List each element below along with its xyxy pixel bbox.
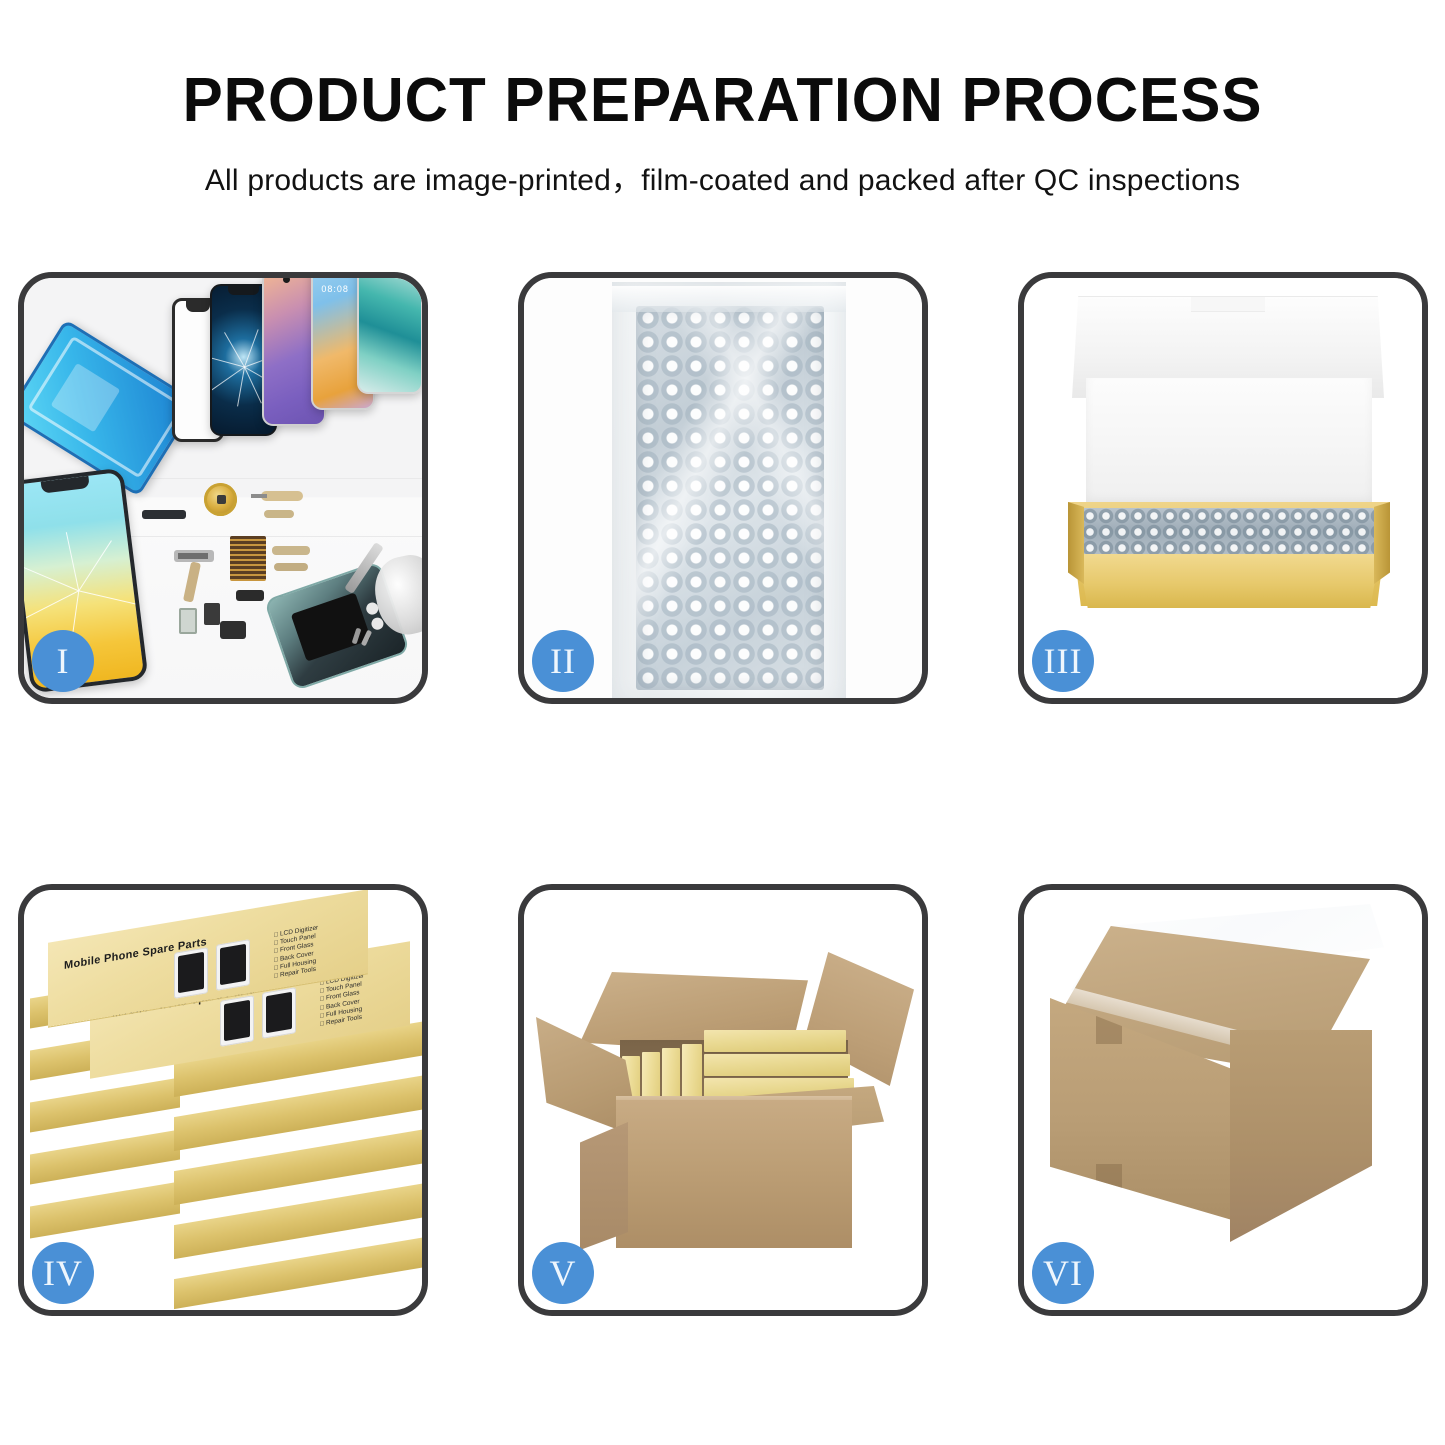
page-title: PRODUCT PREPARATION PROCESS	[22, 68, 1424, 133]
step-3-image	[1024, 278, 1422, 698]
step-badge-1: I	[32, 630, 94, 692]
step-badge-5: V	[532, 1242, 594, 1304]
step-panel-5: V	[518, 884, 928, 1316]
vibrator-motor-part	[236, 590, 264, 601]
sim-tray-part	[179, 608, 197, 634]
box-right-edge	[1374, 502, 1390, 584]
small-module-part	[220, 621, 246, 639]
ic-chip-part	[230, 536, 266, 581]
white-foam-sheet	[1086, 378, 1372, 506]
screen-photo	[220, 995, 254, 1047]
carton-left-face	[580, 1122, 628, 1250]
page-subtitle: All products are image-printed，film-coat…	[0, 155, 1445, 199]
step-badge-2: II	[532, 630, 594, 692]
step-4-image: Mobile Phone Spare Parts LCD Digitizer T…	[24, 890, 422, 1310]
flex-cable-part	[261, 491, 303, 501]
connector-part	[174, 550, 214, 562]
retail-box-checklist: LCD Digitizer Touch Panel Front Glass Ba…	[274, 924, 318, 981]
step-2-image	[524, 278, 922, 698]
bag-seal	[612, 286, 846, 312]
carton-front-face	[616, 1100, 852, 1248]
step-panel-2: II	[518, 272, 928, 704]
power-button-flex-part	[274, 563, 308, 571]
step-5-image	[524, 890, 922, 1310]
earpiece-speaker-part	[142, 510, 186, 519]
screen-photo	[262, 987, 296, 1039]
small-module-part	[204, 603, 220, 625]
box-edge	[30, 1181, 180, 1238]
step-badge-4: IV	[32, 1242, 94, 1304]
box-edge	[30, 1129, 180, 1184]
wireless-charging-coil-part	[204, 483, 237, 516]
step-badge-3: III	[1032, 630, 1094, 692]
volume-button-flex-part	[272, 546, 310, 555]
box-left-edge	[1068, 502, 1084, 584]
step-1-image: 08:08	[24, 278, 422, 698]
retail-box-stack: Mobile Phone Spare Parts LCD Digitizer T…	[24, 890, 422, 1310]
step-badge-6: VI	[1032, 1242, 1094, 1304]
step-panel-3: III	[1018, 272, 1428, 704]
bubble-wrapped-product	[1082, 508, 1374, 558]
screen-photo	[174, 947, 208, 999]
screen-photo	[216, 939, 250, 991]
lockscreen-clock: 08:08	[321, 284, 349, 294]
phone-display-teal	[357, 278, 422, 394]
retail-box-in-carton	[704, 1030, 846, 1052]
process-steps-grid: 08:08	[18, 272, 1427, 1316]
flex-cable-part	[264, 510, 294, 518]
step-6-image	[1024, 890, 1422, 1310]
step-panel-4: Mobile Phone Spare Parts LCD Digitizer T…	[18, 884, 428, 1316]
retail-box-in-carton	[704, 1054, 850, 1076]
retail-box-checklist: LCD Digitizer Touch Panel Front Glass Ba…	[320, 972, 364, 1029]
header: PRODUCT PREPARATION PROCESS All products…	[0, 0, 1445, 199]
box-edge	[30, 1077, 180, 1132]
step-panel-1: 08:08	[18, 272, 428, 704]
plastic-sheen	[636, 306, 824, 690]
kraft-box-front-face	[1072, 554, 1386, 608]
step-panel-6: VI	[1018, 884, 1428, 1316]
